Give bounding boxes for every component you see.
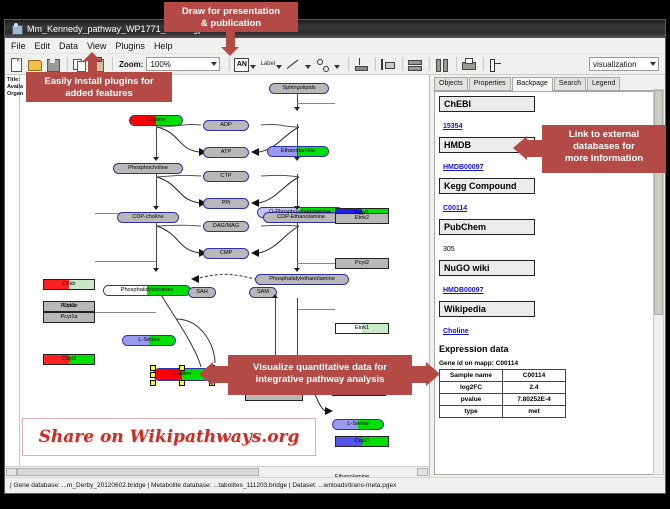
edge-to-pcyt2 xyxy=(297,263,335,264)
node-pcyt1a[interactable]: Pcyt1a xyxy=(43,312,95,323)
cell-value: met xyxy=(503,406,566,418)
expression-data-title: Expression data xyxy=(439,344,650,354)
visualization-value: visualization xyxy=(593,60,637,69)
resize-handle[interactable] xyxy=(150,372,156,378)
node-cmp[interactable]: CMP xyxy=(203,248,249,259)
table-row: pvalue 7.80252E-4 xyxy=(440,394,566,406)
callout-visualize-line1: Visualize quantitative data for xyxy=(234,362,406,374)
pubchem-header: PubChem xyxy=(439,219,535,235)
tab-search[interactable]: Search xyxy=(554,77,586,90)
menubar: File Edit Data View Plugins Help xyxy=(5,38,665,54)
arrow-icon xyxy=(272,294,278,298)
side-panel-tabs: Objects Properties Backpage Search Legen… xyxy=(434,77,661,91)
meta-availability-label: Availa xyxy=(7,84,23,91)
node-ctp[interactable]: CTP xyxy=(203,171,249,182)
cell-value: 7.80252E-4 xyxy=(503,394,566,406)
pubchem-value: 305 xyxy=(443,246,455,253)
zoom-value: 100% xyxy=(150,60,170,69)
node-l-serine-right[interactable]: L-Serine xyxy=(332,419,384,430)
zoom-label: Zoom: xyxy=(119,60,143,69)
node-ethanolamine-top[interactable]: Ethanolamine xyxy=(267,146,329,157)
toolbar-separator xyxy=(456,57,457,71)
callout-visualize-shaft-right xyxy=(411,366,427,383)
chevron-down-icon[interactable] xyxy=(334,65,340,69)
callout-link-line1: Link to external xyxy=(548,129,660,141)
hmdb-link[interactable]: HMDB00097 xyxy=(443,164,483,171)
wikipedia-header: Wikipedia xyxy=(439,301,535,317)
table-row: Sample name C00114 xyxy=(440,370,566,382)
callout-visualize: Visualize quantitative data for integrat… xyxy=(228,355,412,395)
pathway-edges-svg xyxy=(5,75,429,465)
app-icon xyxy=(11,23,23,35)
scroll-left-arrow[interactable] xyxy=(6,468,17,476)
callout-link-line2: databases for xyxy=(548,141,660,153)
callout-visualize-shaft-left xyxy=(213,366,229,383)
kegg-link[interactable]: C00114 xyxy=(443,205,467,212)
align-left-icon[interactable] xyxy=(380,57,395,72)
kegg-header: Kegg Compound xyxy=(439,178,535,194)
meta-organism-label: Organ xyxy=(7,91,23,98)
node-cept1[interactable]: Cept1 xyxy=(335,436,389,447)
callout-plugins: Easily install plugins for added feature… xyxy=(26,72,172,102)
toolbar-separator xyxy=(229,57,230,71)
label-icon[interactable]: Label xyxy=(260,57,275,72)
wikipedia-link[interactable]: Choline xyxy=(443,328,469,335)
chevron-down-icon[interactable] xyxy=(276,65,282,69)
resize-handle[interactable] xyxy=(179,380,185,386)
menu-help[interactable]: Help xyxy=(154,41,173,51)
node-dag-mag[interactable]: DAG/MAG xyxy=(203,221,249,232)
node-chkb[interactable]: Chkb xyxy=(43,279,95,290)
node-phosphatidylethanolamine[interactable]: Phosphatidylethanolamine xyxy=(255,274,349,285)
hscrollbar-thumb[interactable] xyxy=(17,468,259,476)
callout-draw-line1: Draw for presentation xyxy=(170,6,292,18)
cell-value: C00114 xyxy=(503,370,566,382)
zoom-combo[interactable]: 100% xyxy=(146,57,220,71)
callout-draw-arrowhead xyxy=(221,47,239,56)
resize-handle[interactable] xyxy=(150,380,156,386)
node-l-serine-left[interactable]: L-Serine xyxy=(122,335,176,346)
expression-table: Sample name C00114 log2FC 2.4 pvalue 7.8… xyxy=(439,369,566,418)
chevron-down-icon xyxy=(650,62,656,66)
statusbar-text: | Gene database: ...m_Derby_20120602.bri… xyxy=(10,482,396,489)
callout-plugins-arrowhead xyxy=(83,52,101,61)
new-icon[interactable] xyxy=(9,57,24,72)
pathway-canvas[interactable]: Title: Availa Organ xyxy=(5,75,430,477)
node-choline[interactable]: Choline xyxy=(129,115,183,126)
menu-data[interactable]: Data xyxy=(59,41,78,51)
chebi-link[interactable]: 15354 xyxy=(443,123,462,130)
callout-visualize-line2: integrative pathway analysis xyxy=(234,374,406,386)
open-icon[interactable] xyxy=(27,57,42,72)
toolbar-separator xyxy=(402,57,403,71)
edge-ope-cdpeth xyxy=(297,174,298,207)
datanode-icon[interactable]: AN xyxy=(234,58,249,72)
stack-icon[interactable] xyxy=(407,57,422,72)
arrow-icon xyxy=(294,268,300,272)
chevron-down-icon[interactable] xyxy=(250,65,256,69)
cell-value: 2.4 xyxy=(503,382,566,394)
callout-link-line3: more information xyxy=(548,153,660,165)
side-panel-icon[interactable] xyxy=(488,57,503,72)
node-sah[interactable]: SAH xyxy=(188,287,216,298)
share-text: Share on Wikipathways.org xyxy=(39,427,300,447)
node-sphingolipids[interactable]: Sphingolipids xyxy=(269,83,329,94)
interaction-icon[interactable] xyxy=(315,57,330,72)
chevron-down-icon[interactable] xyxy=(305,65,311,69)
edge-to-sgpl1 xyxy=(297,103,335,104)
scroll-right-arrow[interactable] xyxy=(417,468,428,476)
menu-file[interactable]: File xyxy=(11,41,26,51)
node-pcyt2[interactable]: Pcyt2 xyxy=(335,258,389,269)
node-phosphatidylcholines[interactable]: Phosphatidylcholines xyxy=(103,285,191,296)
cell-key: log2FC xyxy=(440,382,503,394)
table-row: type met xyxy=(440,406,566,418)
node-ppi[interactable]: PPi xyxy=(203,198,249,209)
statusbar: | Gene database: ...m_Derby_20120602.bri… xyxy=(5,477,665,493)
toolbar-separator xyxy=(483,57,484,71)
menu-edit[interactable]: Edit xyxy=(35,41,51,51)
callout-draw-line2: & publication xyxy=(170,18,292,30)
table-row: log2FC 2.4 xyxy=(440,382,566,394)
visualization-combo[interactable]: visualization xyxy=(589,57,659,71)
toolbar-separator xyxy=(112,57,113,71)
node-cdp-choline[interactable]: CDP-choline xyxy=(117,212,179,223)
toolbar-separator xyxy=(67,57,68,71)
line-icon[interactable] xyxy=(286,57,301,72)
arrow-icon xyxy=(294,157,300,161)
callout-link-shaft xyxy=(527,140,543,157)
nugowiki-header: NuGO wiki xyxy=(439,260,535,276)
node-atp[interactable]: ATP xyxy=(203,147,249,158)
edge-to-cept1 xyxy=(297,309,335,310)
callout-link: Link to external databases for more info… xyxy=(542,125,666,173)
cell-key: type xyxy=(440,406,503,418)
resize-handle[interactable] xyxy=(150,365,156,371)
equal-width-icon[interactable] xyxy=(434,57,449,72)
node-phosphocholine[interactable]: Phosphocholine xyxy=(113,163,183,174)
cell-key: pvalue xyxy=(440,394,503,406)
pathway-meta-labels: Title: Availa Organ xyxy=(7,77,23,98)
node-adp[interactable]: ADP xyxy=(203,120,249,131)
node-etnk1[interactable]: Etnk1 xyxy=(335,323,389,334)
edge-sphingolipids-ethanolamine xyxy=(297,94,298,108)
nugowiki-link[interactable]: HMDB00097 xyxy=(443,287,483,294)
node-chpt1[interactable]: Chpt1 xyxy=(43,354,95,365)
align-icon[interactable] xyxy=(353,57,368,72)
toolbar-separator xyxy=(348,57,349,71)
tab-legend[interactable]: Legend xyxy=(587,77,620,90)
meta-title-label: Title: xyxy=(7,77,23,84)
save-icon[interactable] xyxy=(45,57,60,72)
toolbar-separator xyxy=(375,57,376,71)
callout-plugins-line2: added features xyxy=(32,88,166,100)
callout-draw-shaft xyxy=(226,32,235,48)
share-banner: Share on Wikipathways.org xyxy=(22,418,316,456)
print-icon[interactable] xyxy=(461,57,476,72)
window-titlebar: Mm_Kennedy_pathway_WP1771_45176.gpml xyxy=(5,20,665,38)
scrollbar-thumb[interactable] xyxy=(654,90,663,315)
toolbar-separator xyxy=(429,57,430,71)
cell-key: Sample name xyxy=(440,370,503,382)
chebi-header: ChEBI xyxy=(439,96,535,112)
arrow-icon xyxy=(294,107,300,111)
menu-plugins[interactable]: Plugins xyxy=(115,41,145,51)
tab-properties[interactable]: Properties xyxy=(469,77,511,90)
chevron-down-icon xyxy=(211,62,217,66)
callout-visualize-arrowhead-right xyxy=(426,362,440,386)
callout-plugins-line1: Easily install plugins for xyxy=(32,76,166,88)
tab-objects[interactable]: Objects xyxy=(434,77,468,90)
screenshot-root: Mm_Kennedy_pathway_WP1771_45176.gpml Fil… xyxy=(0,0,670,509)
callout-visualize-arrowhead-left xyxy=(199,362,213,386)
callout-link-arrowhead xyxy=(513,136,527,160)
menu-view[interactable]: View xyxy=(87,41,106,51)
callout-draw: Draw for presentation & publication xyxy=(164,2,298,32)
gene-id-line: Gene id on mapp: C00114 xyxy=(439,360,650,367)
tab-backpage[interactable]: Backpage xyxy=(512,77,553,91)
